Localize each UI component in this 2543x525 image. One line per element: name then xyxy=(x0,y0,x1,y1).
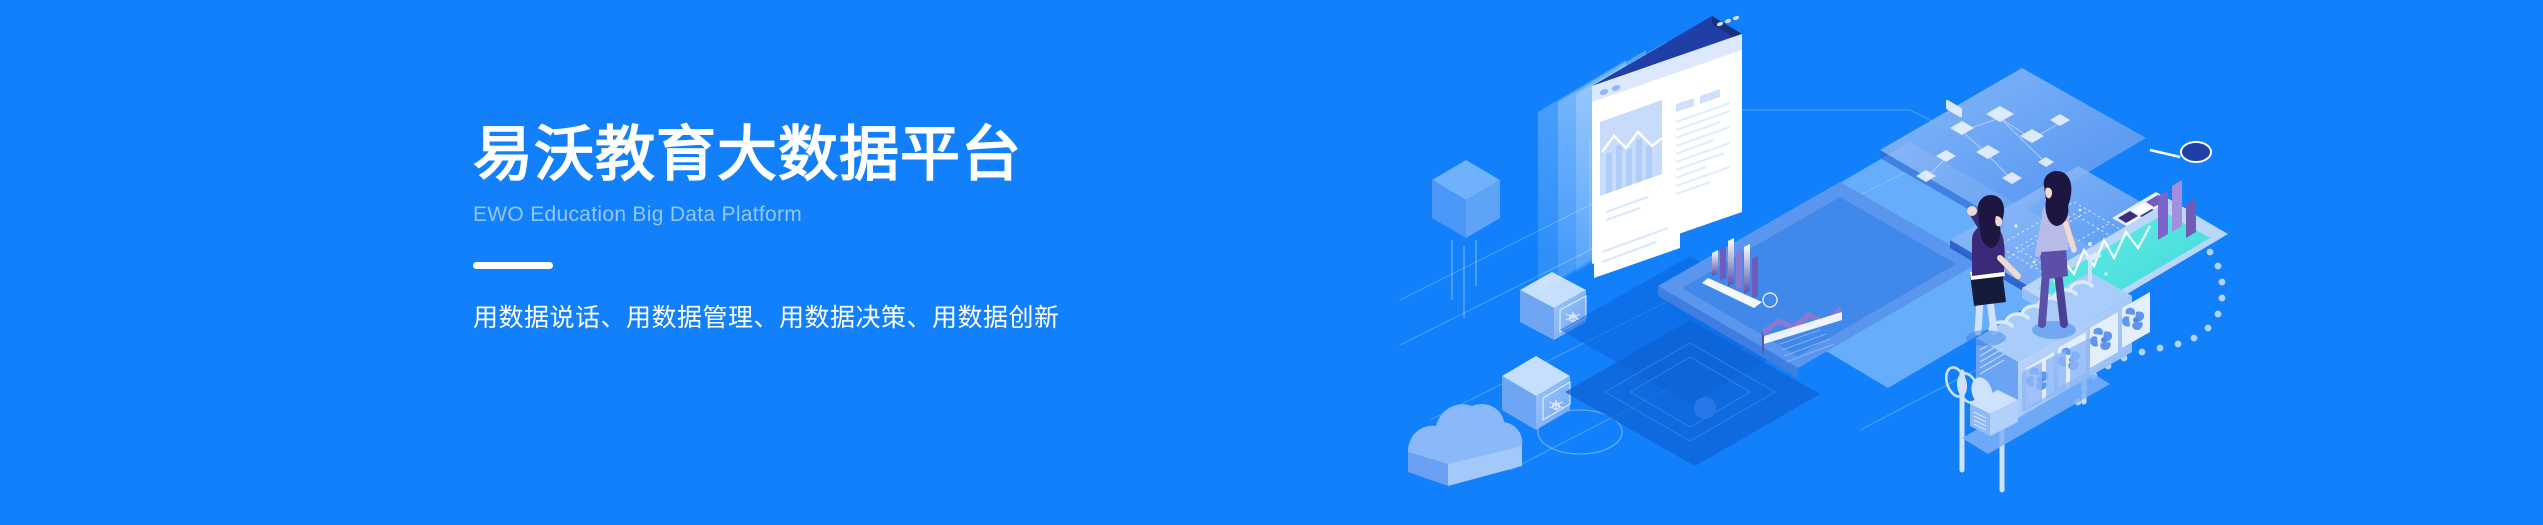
page-subtitle: EWO Education Big Data Platform xyxy=(473,202,1253,228)
search-icon xyxy=(2150,142,2211,162)
browser-window-dashboard xyxy=(1592,15,1742,278)
hero-banner: 易沃教育大数据平台 EWO Education Big Data Platfor… xyxy=(0,0,2543,525)
hero-tagline: 用数据说话、用数据管理、用数据决策、用数据创新 xyxy=(473,301,1253,335)
floating-cube xyxy=(1432,160,1500,238)
hero-text-block: 易沃教育大数据平台 EWO Education Big Data Platfor… xyxy=(473,120,1253,335)
cloud-icon xyxy=(1408,404,1522,486)
title-divider xyxy=(473,262,553,269)
server-cube-star-lower xyxy=(1502,356,1570,430)
isometric-big-data-illustration xyxy=(1390,0,2250,525)
page-title: 易沃教育大数据平台 xyxy=(473,120,1253,190)
cube-drip-lines xyxy=(1452,240,1476,318)
text-lines-panel xyxy=(1670,74,1734,204)
